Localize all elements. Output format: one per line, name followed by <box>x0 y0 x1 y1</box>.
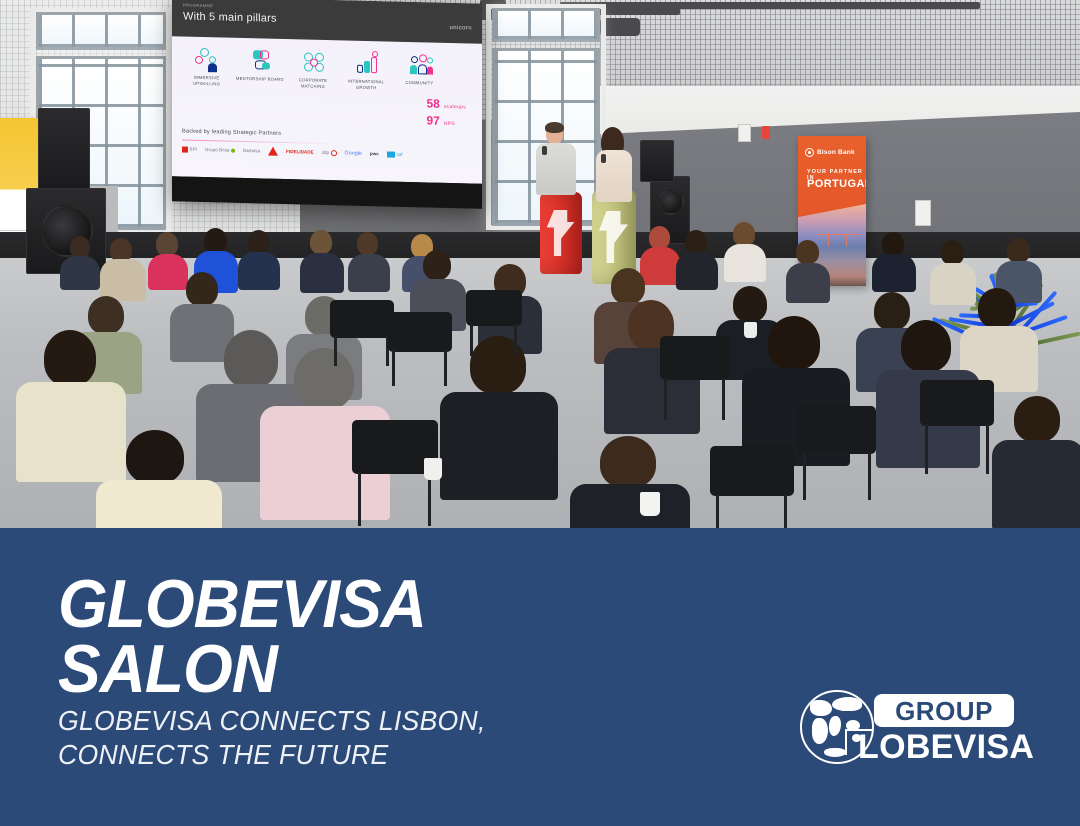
fire-extinguisher <box>762 126 770 139</box>
audience-member <box>570 436 690 528</box>
chair <box>660 336 730 422</box>
bar-growth-icon <box>340 50 393 77</box>
banner-line-2: PORTUGAL <box>807 178 866 190</box>
slide-eyebrow: PROGRAMME <box>183 2 213 8</box>
window-transom <box>36 12 166 50</box>
chair <box>920 380 994 476</box>
partner-logo-barbosa: Barbosa <box>243 148 260 153</box>
chair <box>710 446 794 528</box>
partner-logo-bpi: BPI <box>182 146 197 152</box>
pillar-label: COMMUNITY <box>393 80 446 87</box>
stat-scaleups: 58 scaleups <box>427 96 467 111</box>
partner-logo-fidelidade: FIDELIDADE <box>286 149 314 155</box>
pa-speaker-top <box>38 108 90 192</box>
stat-value: 97 <box>427 113 440 127</box>
pa-speaker-right-top <box>640 140 674 182</box>
page-subtitle: GLOBEVISA CONNECTS LISBON, CONNECTS THE … <box>58 704 486 772</box>
partner-logo-row: BPI Grupo Brisa Barbosa Delta FIDELIDA <box>182 144 472 160</box>
audience-member <box>440 336 558 498</box>
paper-cup <box>424 458 442 480</box>
people-group-icon <box>393 52 446 79</box>
slide-brand: unicorn <box>450 25 472 32</box>
partner-logo-delta: Delta <box>268 147 278 156</box>
slide-stats: 58 scaleups 97 NPS <box>427 96 467 131</box>
pillar-label: MENTORSHIP BOARD <box>233 76 286 83</box>
podium-arrow-icon <box>547 210 575 256</box>
partners-divider <box>182 139 337 144</box>
pillar-label: IMMERSIVE UPSKILLING <box>180 74 233 87</box>
stat-value: 58 <box>427 96 440 110</box>
poster-canvas: PROGRAMME With 5 main pillars unicorn IM… <box>0 0 1080 826</box>
partner-logo-cuf: cuf <box>387 151 403 157</box>
male-presenter <box>530 124 586 196</box>
chair <box>798 406 876 502</box>
pillar-international-growth: INTERNATIONAL GROWTH <box>340 50 393 91</box>
stat-unit: NPS <box>444 121 455 127</box>
globevisa-group-logo: GROUP LOBEVISA <box>800 686 1024 772</box>
puzzle-match-icon <box>286 49 339 76</box>
female-presenter <box>588 128 644 204</box>
stat-nps: 97 NPS <box>427 113 467 128</box>
chair <box>466 290 522 360</box>
event-photo: PROGRAMME With 5 main pillars unicorn IM… <box>0 0 1080 528</box>
pillar-immersive-upskilling: IMMERSIVE UPSKILLING <box>180 46 233 87</box>
partner-logo-pwc: pwc <box>370 151 379 156</box>
window-transom <box>492 8 600 42</box>
pillar-list: IMMERSIVE UPSKILLING MENTORSHIP BOARD <box>180 46 446 92</box>
pillar-label: CORPORATE MATCHING <box>286 77 339 90</box>
audience-member <box>786 240 830 300</box>
ceiling-beam <box>560 2 980 9</box>
red-podium <box>540 192 582 274</box>
audience-member <box>60 236 100 288</box>
partner-logo-brisa: Grupo Brisa <box>205 147 235 153</box>
pillar-label: INTERNATIONAL GROWTH <box>340 78 393 91</box>
audience-member <box>872 232 916 290</box>
audience-member <box>724 222 766 280</box>
microphone-icon <box>542 146 547 155</box>
audience-member <box>96 430 222 528</box>
audience-member <box>676 230 718 288</box>
bison-bank-logo: Bison Bank <box>805 148 855 157</box>
ceiling-light <box>600 18 640 36</box>
slide-body: IMMERSIVE UPSKILLING MENTORSHIP BOARD <box>172 36 482 184</box>
slide-title: With 5 main pillars <box>183 10 277 24</box>
chair <box>330 300 394 368</box>
podium-arrow-icon <box>599 211 628 264</box>
audience-member <box>100 238 146 300</box>
audience-member <box>992 396 1080 528</box>
wall-notice <box>915 200 931 226</box>
pillar-mentorship-board: MENTORSHIP BOARD <box>233 48 286 89</box>
wall-notice <box>738 124 751 142</box>
group-badge: GROUP <box>874 694 1014 727</box>
chat-bubbles-icon <box>233 48 286 75</box>
partners-heading: Backed by leading Strategic Partners <box>182 128 281 136</box>
microphone-icon <box>601 154 606 163</box>
audience-member <box>300 230 344 290</box>
paper-cup <box>640 492 660 516</box>
page-title: GLOBEVISA SALON <box>58 572 426 703</box>
presenter-hair <box>545 122 564 133</box>
pillar-corporate-matching: CORPORATE MATCHING <box>286 49 339 90</box>
paper-cup <box>744 322 757 338</box>
gear-person-icon <box>180 46 233 73</box>
bison-bank-name: Bison Bank <box>817 149 855 156</box>
pillar-community: COMMUNITY <box>393 52 446 93</box>
audience-member <box>348 232 390 290</box>
partner-logo-google: Google <box>345 150 362 156</box>
bison-ring-icon <box>805 148 814 157</box>
projection-screen: PROGRAMME With 5 main pillars unicorn IM… <box>172 0 482 209</box>
chair <box>388 312 452 390</box>
partner-logo-sdp: sdp <box>322 149 337 155</box>
group-label: GROUP <box>874 696 1014 727</box>
globevisa-wordmark: LOBEVISA <box>858 728 1034 767</box>
stat-unit: scaleups <box>444 104 466 111</box>
audience-member <box>238 230 280 288</box>
title-band: GLOBEVISA SALON GLOBEVISA CONNECTS LISBO… <box>0 528 1080 826</box>
